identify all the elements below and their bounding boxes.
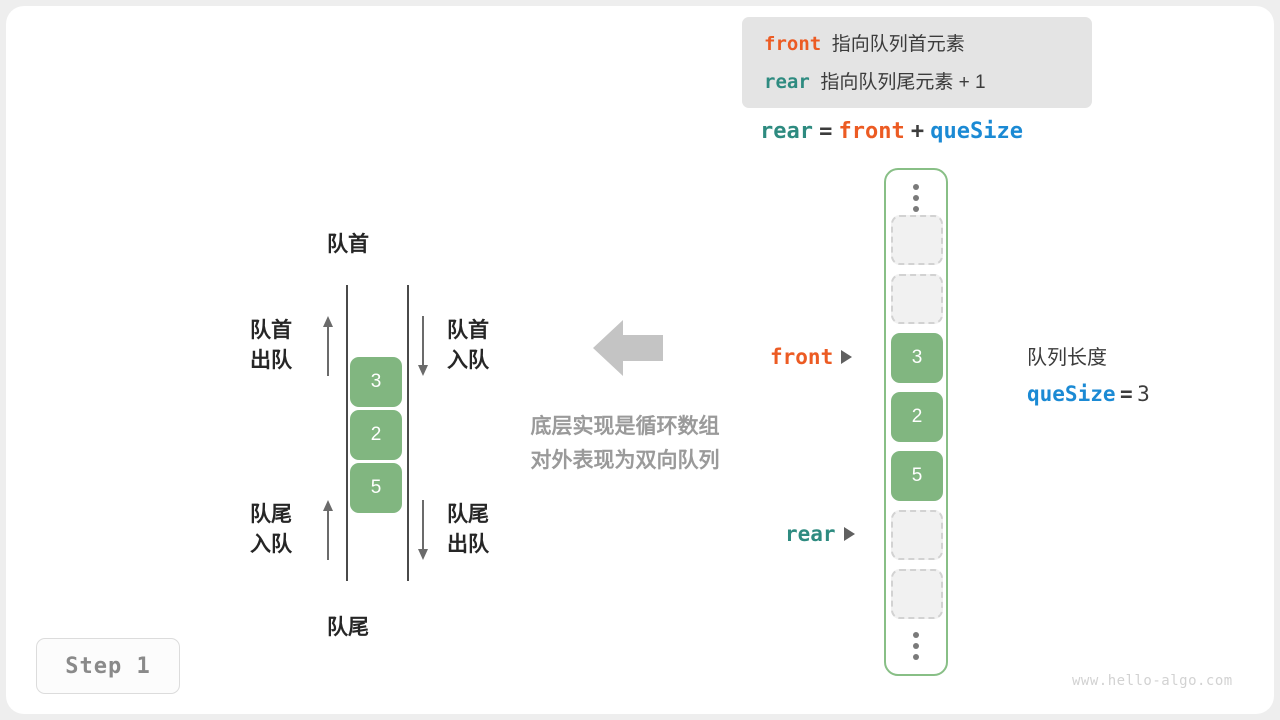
rear-formula: rear = front + queSize [760,118,1023,144]
step-badge: Step 1 [36,638,180,694]
implementation-note-line2: 对外表现为双向队列 [531,444,720,478]
deque-rail-left [346,285,348,581]
formula-quesize: queSize [930,119,1023,144]
watermark: www.hello-algo.com [1072,673,1233,689]
legend-rear-code: rear [764,71,810,93]
deque-cell: 2 [350,410,402,460]
diagram-canvas: front 指向队列首元素 rear 指向队列尾元素 + 1 rear = fr… [0,0,1280,720]
label-front-enqueue-l2: 入队 [447,346,489,376]
arrow-right-icon [844,527,855,541]
label-front-dequeue-l1: 队首 [250,316,292,346]
queue-size-note: 队列长度 queSize = 3 [1027,340,1150,415]
legend-front-code: front [764,33,821,55]
arrow-right-icon [841,350,852,364]
front-pointer: front [770,345,852,369]
quesize-value: 3 [1137,382,1150,406]
label-tail-dequeue: 队尾 出队 [447,500,489,560]
quesize-equals: = [1120,382,1133,406]
ellipsis-bottom-icon [913,632,919,660]
label-front-dequeue: 队首 出队 [250,316,292,376]
legend-rear-text: 指向队列尾元素 + 1 [820,72,985,93]
deque-cell: 5 [350,463,402,513]
legend-line-rear: rear 指向队列尾元素 + 1 [764,67,986,94]
array-cell [891,274,943,324]
deque-head-caption: 队首 [327,228,369,258]
implementation-note-line1: 底层实现是循环数组 [531,410,720,444]
queue-size-label: 队列长度 [1027,340,1150,376]
arrow-down-icon [415,500,431,560]
array-cell: 5 [891,451,943,501]
rear-pointer: rear [785,522,855,546]
label-tail-dequeue-l1: 队尾 [447,500,489,530]
deque-rail-right [407,285,409,581]
big-left-arrow-icon [593,320,663,376]
label-front-enqueue-l1: 队首 [447,316,489,346]
label-tail-enqueue-l2: 入队 [250,530,292,560]
legend-line-front: front 指向队列首元素 [764,29,965,56]
formula-equals: = [819,119,832,144]
label-front-enqueue: 队首 入队 [447,316,489,376]
label-front-dequeue-l2: 出队 [250,346,292,376]
formula-plus: + [911,119,924,144]
pointer-legend-box: front 指向队列首元素 rear 指向队列尾元素 + 1 [742,17,1092,108]
array-cell: 2 [891,392,943,442]
arrow-down-icon [415,316,431,376]
implementation-note: 底层实现是循环数组 对外表现为双向队列 [531,410,720,478]
array-cell [891,510,943,560]
formula-front: front [838,119,904,144]
label-tail-enqueue-l1: 队尾 [250,500,292,530]
formula-rear: rear [760,119,813,144]
quesize-var: queSize [1027,382,1116,406]
circular-array-container: 3 2 5 [884,168,948,676]
deque-tail-caption: 队尾 [327,611,369,641]
deque-cell: 3 [350,357,402,407]
ellipsis-top-icon [913,184,919,212]
array-cell: 3 [891,333,943,383]
legend-front-text: 指向队列首元素 [832,34,965,55]
arrow-up-icon [320,316,336,376]
front-pointer-label: front [770,345,833,369]
array-cell [891,569,943,619]
rear-pointer-label: rear [785,522,836,546]
arrow-up-icon [320,500,336,560]
array-cell [891,215,943,265]
label-tail-dequeue-l2: 出队 [447,530,489,560]
label-tail-enqueue: 队尾 入队 [250,500,292,560]
